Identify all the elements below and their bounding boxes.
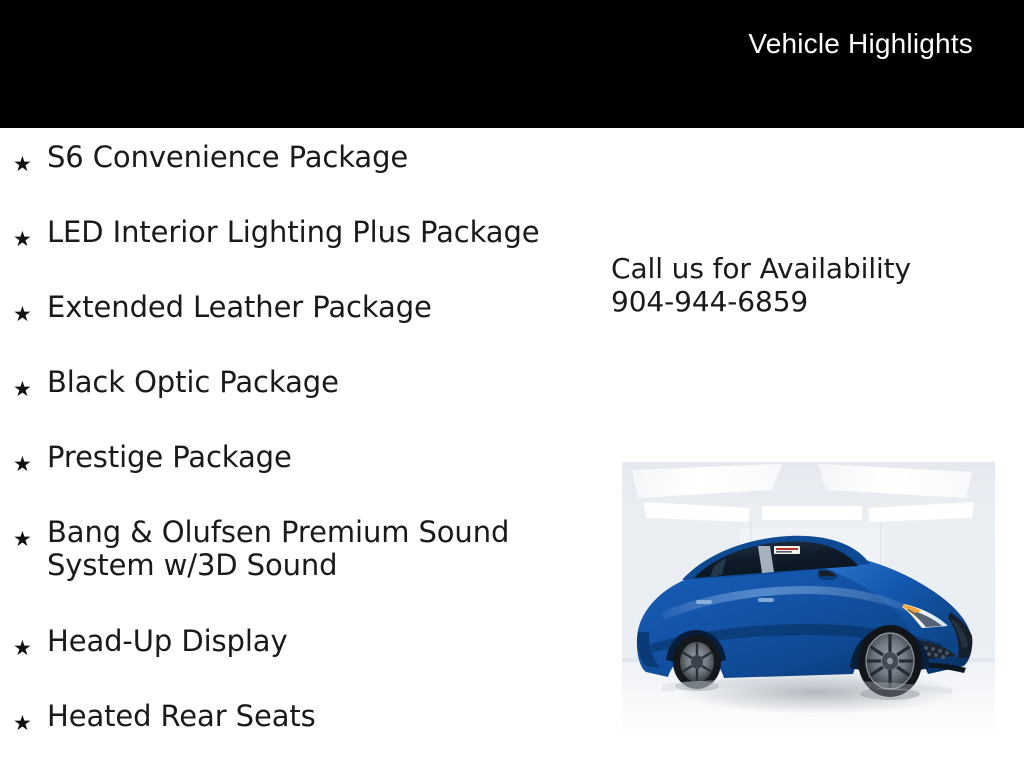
list-item: ★ Prestige Package bbox=[0, 428, 560, 503]
star-bullet-icon: ★ bbox=[13, 503, 47, 556]
list-item: ★ Extended Leather Package bbox=[0, 278, 560, 353]
star-bullet-icon: ★ bbox=[13, 687, 47, 740]
list-item-label: Head-Up Display bbox=[47, 612, 560, 658]
list-item-label: Prestige Package bbox=[47, 428, 560, 474]
vehicle-highlights-list: ★ S6 Convenience Package ★ LED Interior … bbox=[0, 128, 560, 762]
star-bullet-icon: ★ bbox=[13, 428, 47, 481]
phone-number[interactable]: 904-944-6859 bbox=[611, 285, 991, 318]
list-item: ★ LED Interior Lighting Plus Package bbox=[0, 203, 560, 278]
header-banner: Vehicle Highlights bbox=[0, 0, 1024, 128]
availability-callout: Call us for Availability 904-944-6859 bbox=[611, 252, 991, 318]
availability-line-1: Call us for Availability bbox=[611, 252, 991, 285]
list-item-label: Heated Rear Seats bbox=[47, 687, 560, 733]
page-title: Vehicle Highlights bbox=[748, 30, 973, 98]
list-item: ★ S6 Convenience Package bbox=[0, 128, 560, 203]
vehicle-photo bbox=[622, 462, 995, 739]
list-item-label: Black Optic Package bbox=[47, 353, 560, 399]
list-item-label: S6 Convenience Package bbox=[47, 128, 560, 174]
star-bullet-icon: ★ bbox=[13, 278, 47, 331]
star-bullet-icon: ★ bbox=[13, 203, 47, 256]
vehicle-photo-illustration bbox=[622, 462, 995, 739]
star-bullet-icon: ★ bbox=[13, 128, 47, 181]
star-bullet-icon: ★ bbox=[13, 612, 47, 665]
list-item-label: LED Interior Lighting Plus Package bbox=[47, 203, 560, 249]
list-item-label: Bang & Olufsen Premium Sound System w/3D… bbox=[47, 503, 560, 582]
list-item: ★ Black Optic Package bbox=[0, 353, 560, 428]
list-item: ★ Heated Rear Seats bbox=[0, 687, 560, 762]
list-item-label: Extended Leather Package bbox=[47, 278, 560, 324]
list-item: ★ Head-Up Display bbox=[0, 612, 560, 687]
star-bullet-icon: ★ bbox=[13, 353, 47, 406]
list-item: ★ Bang & Olufsen Premium Sound System w/… bbox=[0, 503, 560, 612]
